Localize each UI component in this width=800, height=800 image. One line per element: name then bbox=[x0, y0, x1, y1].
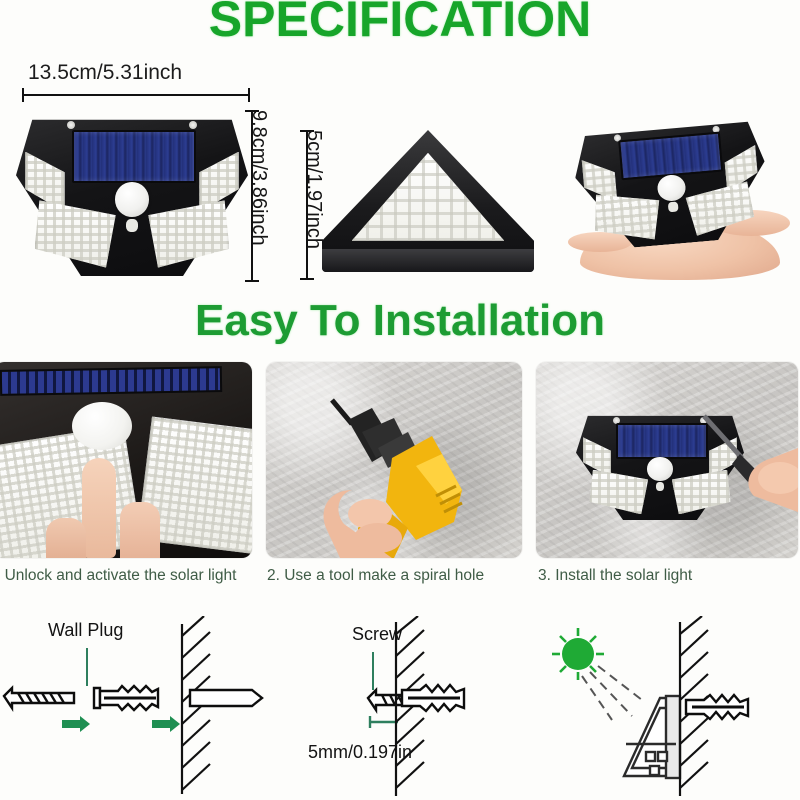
install-step-3-image bbox=[536, 362, 798, 558]
sensor-switch bbox=[668, 201, 678, 212]
depth-measure-line bbox=[370, 716, 398, 728]
page-title-specification: SPECIFICATION bbox=[0, 0, 800, 48]
wall-plug-icon bbox=[94, 686, 158, 710]
screwdriver-and-hand-icon bbox=[536, 362, 798, 558]
sun-icon bbox=[552, 628, 604, 680]
install-step-3-caption: 3. Install the solar light bbox=[538, 566, 794, 586]
screw-icon bbox=[4, 688, 74, 708]
pressing-finger bbox=[82, 458, 116, 558]
install-step-1-image bbox=[0, 362, 252, 558]
wall-plug-icon bbox=[686, 695, 748, 719]
hand-finger bbox=[46, 518, 86, 558]
power-drill-icon bbox=[266, 362, 522, 558]
install-step-1-caption: . Unlock and activate the solar light bbox=[0, 566, 246, 586]
install-step-2-caption: 2. Use a tool make a spiral hole bbox=[267, 566, 517, 586]
screw-depth-diagram: Screw 5mm/0.197in bbox=[290, 616, 540, 800]
side-base bbox=[322, 249, 534, 272]
sensor-switch bbox=[126, 219, 138, 232]
wall-plug-icon bbox=[402, 685, 464, 711]
direction-arrow-icon bbox=[62, 716, 180, 732]
light-rays-icon bbox=[582, 666, 642, 720]
hand-finger bbox=[120, 502, 160, 558]
wall-plug-diagram: Wall Plug bbox=[0, 616, 270, 800]
product-front-view bbox=[16, 108, 248, 276]
motion-sensor-dome bbox=[72, 402, 132, 450]
section-title-installation: Easy To Installation bbox=[0, 296, 800, 346]
inserted-plug-icon bbox=[190, 690, 262, 706]
product-hand-scale-view bbox=[562, 114, 800, 282]
dimension-height-label: 9.8cm/3.86inch bbox=[247, 110, 270, 246]
lamp-side-view-icon bbox=[624, 696, 680, 778]
dimension-width-line bbox=[22, 94, 250, 96]
mounted-lamp-diagram bbox=[520, 616, 800, 800]
dimension-width-label: 13.5cm/5.31inch bbox=[28, 61, 182, 85]
product-front-view-small bbox=[571, 112, 771, 252]
product-side-view bbox=[322, 130, 534, 272]
specification-section: 13.5cm/5.31inch 9.8cm/3.86inch 5cm/1.97i… bbox=[0, 52, 800, 292]
install-step-2-image bbox=[266, 362, 522, 558]
solar-panel bbox=[0, 366, 222, 396]
solar-panel bbox=[72, 130, 197, 183]
